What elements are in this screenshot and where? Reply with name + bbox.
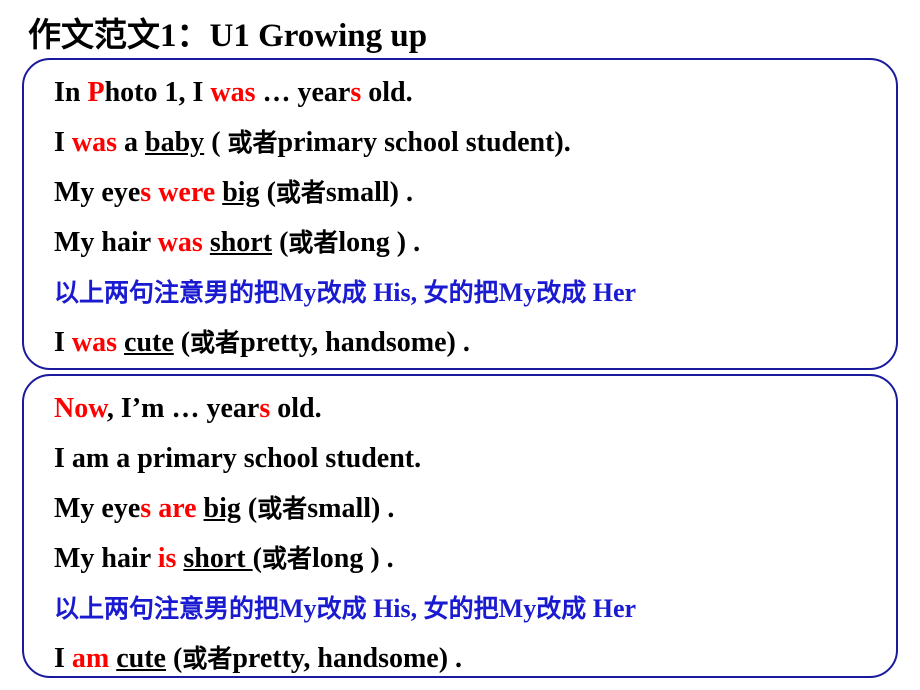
present-line-6: I am cute (或者pretty, handsome) . [36,634,884,684]
text-segment: pretty, handsome) . [232,643,462,674]
present-line-4: My hair is short (或者long ) . [36,534,884,584]
text-segment: was [158,227,203,258]
past-line-1: In Photo 1, I was … years old. [36,68,884,118]
text-segment: ( [174,327,190,358]
page-title: 作文范文1：U1 Growing up [28,8,427,56]
text-segment [203,227,210,258]
text-segment: My [499,278,537,307]
text-segment: s [259,393,270,424]
text-segment: 改成 [536,278,586,307]
text-segment: was [72,127,117,158]
text-segment: small) . [326,177,413,208]
text-segment: My [279,278,317,307]
text-segment: My hair [54,543,158,574]
text-segment: long ) . [338,227,420,258]
text-segment: … year [164,393,259,424]
text-segment: old. [361,77,412,108]
text-segment: primary school student). [278,127,571,158]
present-lines-container: Now, I’m … years old.I am a primary scho… [36,384,884,684]
text-segment: cute [116,643,166,674]
text-segment: short [210,227,272,258]
text-segment: 改成 [317,594,367,623]
text-segment: small) . [307,493,394,524]
text-segment: baby [145,127,204,158]
text-segment: In [54,77,87,108]
text-segment: My [499,594,537,623]
past-line-5: 以上两句注意男的把My改成 His, 女的把My改成 Her [36,268,884,318]
text-segment: is [158,543,177,574]
text-segment: ( [166,643,182,674]
text-segment: ( [260,177,276,208]
text-segment: 或者 [190,328,240,357]
text-segment: … year [256,77,351,108]
present-line-2: I am a primary school student. [36,434,884,484]
past-lines-container: In Photo 1, I was … years old.I was a ba… [36,68,884,368]
text-segment: 或者 [228,128,278,157]
slide-canvas: 作文范文1：U1 Growing up In Photo 1, I was … … [0,0,920,690]
text-box-past: In Photo 1, I was … years old.I was a ba… [22,58,898,370]
text-segment: 女的把 [424,278,499,307]
text-segment: 改成 [317,278,367,307]
text-segment: short [183,543,252,574]
text-segment: My eye [54,177,140,208]
text-segment: ( [253,543,262,574]
text-segment: Now [54,393,107,424]
text-segment: s were [140,177,215,208]
text-segment: ( [272,227,288,258]
text-segment: ( [204,127,227,158]
text-segment: 或者 [262,544,312,573]
present-line-5: 以上两句注意男的把My改成 His, 女的把My改成 Her [36,584,884,634]
text-segment: 以上两句注意男的把 [54,278,279,307]
text-segment: 或者 [257,494,307,523]
text-segment: a [117,127,145,158]
text-segment: cute [124,327,174,358]
present-line-1: Now, I’m … years old. [36,384,884,434]
text-segment [197,493,204,524]
text-segment: I [54,127,72,158]
text-box-present: Now, I’m … years old.I am a primary scho… [22,374,898,678]
text-segment: 或者 [288,228,338,257]
text-segment: 或者 [182,644,232,673]
past-line-6: I was cute (或者pretty, handsome) . [36,318,884,368]
text-segment: Her [586,594,636,623]
text-segment: s are [140,493,196,524]
text-segment: I [54,643,72,674]
text-segment: 或者 [276,178,326,207]
text-segment: 女的把 [424,594,499,623]
text-segment: , I’m [107,393,165,424]
text-segment: I [54,327,72,358]
text-segment: long ) . [312,543,394,574]
past-line-3: My eyes were big (或者small) . [36,168,884,218]
present-line-3: My eyes are big (或者small) . [36,484,884,534]
text-segment: His, [367,594,424,623]
text-segment: am [72,643,109,674]
text-segment: My eye [54,493,140,524]
text-segment: 以上两句注意男的把 [54,594,279,623]
text-segment: Her [586,278,636,307]
text-segment: My hair [54,227,158,258]
text-segment: was [210,77,255,108]
text-segment: was [72,327,117,358]
text-segment: ( [241,493,257,524]
past-line-4: My hair was short (或者long ) . [36,218,884,268]
text-segment: I am a primary school student. [54,443,421,474]
text-segment: pretty, handsome) . [240,327,470,358]
text-segment: old. [270,393,321,424]
text-segment: s [350,77,361,108]
text-segment: 改成 [536,594,586,623]
text-segment: P [87,77,104,108]
text-segment: hoto 1, I [105,77,211,108]
past-line-2: I was a baby ( 或者primary school student)… [36,118,884,168]
text-segment [117,327,124,358]
text-segment: big [204,493,241,524]
text-segment: His, [367,278,424,307]
text-segment: My [279,594,317,623]
text-segment: big [222,177,259,208]
